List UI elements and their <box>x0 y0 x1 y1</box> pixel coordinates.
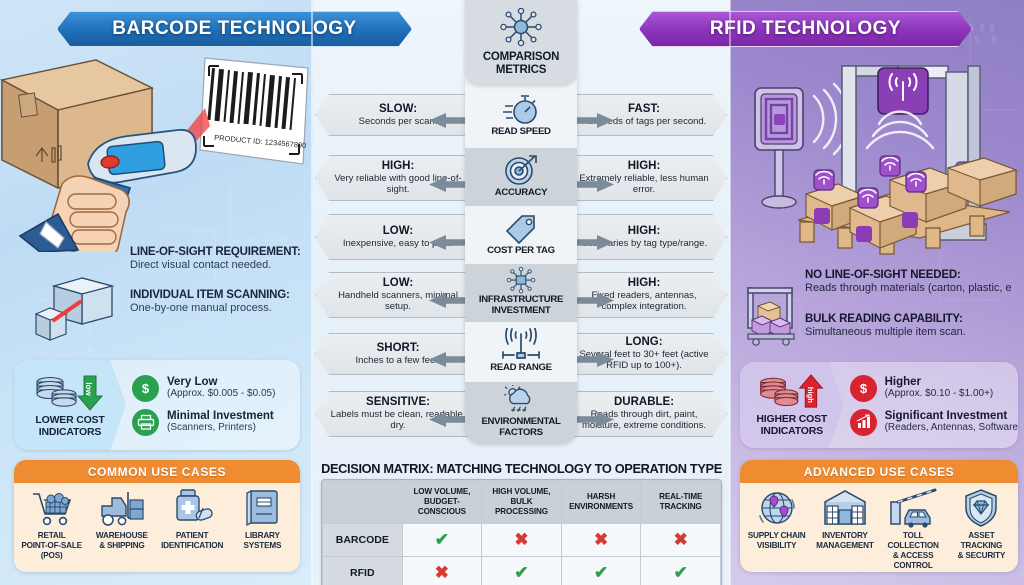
callout-key: HIGH: <box>382 160 415 173</box>
feature-desc: Direct visual contact needed. <box>130 259 310 273</box>
svg-text:$: $ <box>859 381 867 396</box>
cost-row-detail: (Approx. $0.005 - $0.05) <box>167 388 275 400</box>
coins-up-arrow-icon: high <box>756 373 828 411</box>
cell-barcode-low-volume: ✔ <box>402 524 482 557</box>
feature-line-of-sight: LINE-OF-SIGHT REQUIREMENT: Direct visual… <box>130 245 310 273</box>
cost-label-block: high HIGHER COSTINDICATORS <box>740 362 844 448</box>
spine-title: COMPARISONMETRICS <box>483 51 559 77</box>
cost-row-title: Very Low <box>167 376 275 389</box>
cell-barcode-realtime: ✖ <box>641 524 721 557</box>
target-arrow-icon <box>502 153 540 187</box>
metric-environmental: ENVIRONMENTAL FACTORS <box>465 382 577 444</box>
use-case-item[interactable]: WAREHOUSE& SHIPPING <box>87 488 156 561</box>
cost-label-block: low LOWER COSTINDICATORS <box>14 360 126 450</box>
feature-individual-scanning: INDIVIDUAL ITEM SCANNING: One-by-one man… <box>130 288 310 316</box>
cost-row-title: Significant Investment <box>885 410 1018 423</box>
decision-matrix: LOW VOLUME,BUDGET-CONSCIOUS HIGH VOLUME,… <box>321 479 722 585</box>
callout-key: LOW: <box>383 225 413 238</box>
network-hub-icon <box>499 8 543 48</box>
callout-key: SLOW: <box>379 103 417 116</box>
cost-row-detail: (Approx. $0.10 - $1.00+) <box>885 388 994 400</box>
cost-row-title: Higher <box>885 376 994 389</box>
callout-left-infrastructure: LOW: Handheld scanners, minimal setup. <box>315 272 473 318</box>
callout-key: SHORT: <box>377 342 420 355</box>
rfid-panel: NO LINE-OF-SIGHT NEEDED: Reads through m… <box>730 0 1024 585</box>
metric-label: READ RANGE <box>490 363 552 374</box>
callout-right-read-range: LONG: Several feet to 30+ feet (active R… <box>569 333 727 375</box>
row-label-rfid: RFID <box>323 557 403 585</box>
cell-rfid-high-volume: ✔ <box>482 557 562 585</box>
cost-row-detail: (Scanners, Printers) <box>167 422 274 434</box>
check-icon: ✔ <box>514 563 528 582</box>
cloud-rain-sun-icon <box>501 385 541 417</box>
use-case-item[interactable]: TOLL COLLECTION& ACCESS CONTROL <box>880 488 947 570</box>
column-header-high-volume: HIGH VOLUME,BULK PROCESSING <box>482 481 562 524</box>
svg-text:high: high <box>806 387 815 403</box>
cost-row: $ Higher (Approx. $0.10 - $1.00+) <box>850 375 1018 402</box>
spine-header: COMPARISONMETRICS <box>465 0 577 84</box>
column-header-low-volume: LOW VOLUME,BUDGET-CONSCIOUS <box>402 481 482 524</box>
use-case-caption: LIBRARYSYSTEMS <box>244 531 282 551</box>
metric-infrastructure: INFRASTRUCTURE INVESTMENT <box>465 264 577 322</box>
feature-desc: Reads through materials (carton, plastic… <box>805 282 1024 296</box>
callout-value: Inches to a few feet. <box>355 355 440 366</box>
callout-value: Seconds per scan. <box>359 116 438 127</box>
coins-down-arrow-icon: low <box>33 372 107 412</box>
use-case-item[interactable]: SUPPLY CHAINVISIBILITY <box>743 488 810 570</box>
cell-barcode-high-volume: ✖ <box>482 524 562 557</box>
advanced-use-cases-card: ADVANCED USE CASES <box>740 460 1018 572</box>
svg-text:low: low <box>84 382 93 396</box>
toll-gate-car-icon <box>887 488 939 528</box>
callout-right-environmental: DURABLE: Reads through dirt, paint, mois… <box>569 391 727 437</box>
feature-no-line-of-sight: NO LINE-OF-SIGHT NEEDED: Reads through m… <box>805 268 1024 296</box>
table-row: BARCODE ✔ ✖ ✖ ✖ <box>323 524 721 557</box>
feature-title: LINE-OF-SIGHT REQUIREMENT: <box>130 245 310 259</box>
dollar-icon: $ <box>850 375 877 402</box>
cost-label: HIGHER COSTINDICATORS <box>756 413 827 437</box>
cell-rfid-harsh: ✔ <box>561 557 641 585</box>
cost-row-title: Minimal Investment <box>167 410 274 423</box>
use-case-caption: SUPPLY CHAINVISIBILITY <box>748 531 806 551</box>
feature-desc: One-by-one manual process. <box>130 302 310 316</box>
metric-cost-per-tag: COST PER TAG <box>465 206 577 264</box>
bulk-reading-icon <box>740 282 802 346</box>
feature-title: BULK READING CAPABILITY: <box>805 312 1021 326</box>
barcode-scanner-illustration: PRODUCT ID: 1234567890 <box>0 52 313 252</box>
column-header-realtime: REAL-TIMETRACKING <box>641 481 721 524</box>
check-icon: ✔ <box>435 530 449 549</box>
panel-divider-left <box>311 0 313 585</box>
check-icon: ✔ <box>594 563 608 582</box>
cost-row-detail: (Readers, Antennas, Software <box>885 422 1018 434</box>
callout-right-read-speed: FAST: Hundreds of tags per second. <box>569 94 727 136</box>
callout-left-accuracy: HIGH: Very reliable with good line-of-si… <box>315 155 473 201</box>
check-icon: ✔ <box>674 563 688 582</box>
feature-desc: Simultaneous multiple item scan. <box>805 326 1021 340</box>
feature-bulk-reading: BULK READING CAPABILITY: Simultaneous mu… <box>805 312 1021 340</box>
metric-accuracy: ACCURACY <box>465 148 577 206</box>
use-case-item[interactable]: INVENTORYMANAGEMENT <box>811 488 878 570</box>
medicine-bottle-icon <box>170 488 214 528</box>
use-cases-heading: ADVANCED USE CASES <box>740 460 1018 483</box>
warehouse-icon <box>822 488 868 528</box>
use-case-item[interactable]: LIBRARYSYSTEMS <box>228 488 297 561</box>
feature-title: NO LINE-OF-SIGHT NEEDED: <box>805 268 1024 282</box>
barcode-panel: PRODUCT ID: 1234567890 <box>0 0 313 585</box>
callout-left-environmental: SENSITIVE: Labels must be clean, readabl… <box>315 391 473 437</box>
row-label-barcode: BARCODE <box>323 524 403 557</box>
table-row: RFID ✖ ✔ ✔ ✔ <box>323 557 721 585</box>
callout-left-read-speed: SLOW: Seconds per scan. <box>315 94 473 136</box>
callout-left-read-range: SHORT: Inches to a few feet. <box>315 333 473 375</box>
metric-read-range: READ RANGE <box>465 322 577 382</box>
infographic-root: PRODUCT ID: 1234567890 <box>0 0 1024 585</box>
decision-matrix-table: LOW VOLUME,BUDGET-CONSCIOUS HIGH VOLUME,… <box>322 480 721 585</box>
table-corner-cell <box>323 481 403 524</box>
forklift-icon <box>98 488 146 528</box>
callout-key: DURABLE: <box>614 396 674 409</box>
shopping-cart-icon <box>29 488 75 528</box>
barcode-title-banner: BARCODE TECHNOLOGY <box>57 11 412 47</box>
cost-row: Minimal Investment (Scanners, Printers) <box>132 409 300 436</box>
metric-label: READ SPEED <box>491 127 550 138</box>
antenna-signal-icon <box>499 328 543 362</box>
use-case-caption: RETAILPOINT-OF-SALE(POS) <box>21 531 82 561</box>
callout-key: LONG: <box>625 336 662 349</box>
callout-right-cost-per-tag: HIGH: Cost varies by tag type/range. <box>569 214 727 260</box>
metric-label: ENVIRONMENTAL FACTORS <box>468 417 574 438</box>
callout-right-infrastructure: HIGH: Fixed readers, antennas, complex i… <box>569 272 727 318</box>
cross-icon: ✖ <box>674 530 688 549</box>
lower-cost-indicators-card: low LOWER COSTINDICATORS $ Very Low (App… <box>14 360 300 450</box>
cross-icon: ✖ <box>594 530 608 549</box>
decision-matrix-title: DECISION MATRIX: MATCHING TECHNOLOGY TO … <box>313 461 730 476</box>
use-case-item[interactable]: RETAILPOINT-OF-SALE(POS) <box>17 488 86 561</box>
metric-label: INFRASTRUCTURE INVESTMENT <box>468 295 574 316</box>
cell-rfid-low-volume: ✖ <box>402 557 482 585</box>
cost-row: Significant Investment (Readers, Antenna… <box>850 409 1018 436</box>
shield-diamond-icon <box>961 488 1001 528</box>
panel-divider-right <box>729 0 731 585</box>
comparison-metrics-spine: COMPARISONMETRICS READ SPEED <box>465 0 577 444</box>
cost-rows: $ Higher (Approx. $0.10 - $1.00+) <box>844 362 1018 448</box>
callout-key: HIGH: <box>628 277 661 290</box>
common-use-cases-card: COMMON USE CASES <box>14 460 300 572</box>
rfid-title-banner: RFID TECHNOLOGY <box>639 11 972 47</box>
stopwatch-icon <box>502 92 540 126</box>
book-icon <box>242 488 282 528</box>
cell-barcode-harsh: ✖ <box>561 524 641 557</box>
cross-icon: ✖ <box>435 563 449 582</box>
callout-key: HIGH: <box>628 160 661 173</box>
use-cases-heading: COMMON USE CASES <box>14 460 300 483</box>
use-case-caption: TOLL COLLECTION& ACCESS CONTROL <box>880 531 947 570</box>
metric-read-speed: READ SPEED <box>465 84 577 148</box>
higher-cost-indicators-card: high HIGHER COSTINDICATORS $ Higher (App… <box>740 362 1018 448</box>
use-cases-list: RETAILPOINT-OF-SALE(POS) <box>14 483 300 565</box>
cost-rows: $ Very Low (Approx. $0.005 - $0.05) <box>126 360 300 450</box>
rfid-gate-illustration <box>730 52 1024 264</box>
use-case-item[interactable]: ASSETTRACKING& SECURITY <box>948 488 1015 570</box>
metric-label: COST PER TAG <box>487 246 555 257</box>
network-hub-icon <box>502 267 540 295</box>
cost-label: LOWER COSTINDICATORS <box>35 414 104 438</box>
cross-icon: ✖ <box>514 530 528 549</box>
use-case-caption: ASSETTRACKING& SECURITY <box>958 531 1006 561</box>
comparison-panel: SLOW: Seconds per scan. HIGH: Very relia… <box>313 0 730 585</box>
callout-key: HIGH: <box>628 225 661 238</box>
use-case-caption: WAREHOUSE& SHIPPING <box>96 531 148 551</box>
svg-text:$: $ <box>142 381 150 396</box>
column-header-harsh: HARSHENVIRONMENTS <box>561 481 641 524</box>
price-tag-icon <box>502 211 540 245</box>
dollar-icon: $ <box>132 375 159 402</box>
globe-pin-icon <box>755 488 799 528</box>
individual-scan-icon <box>32 272 124 344</box>
table-header-row: LOW VOLUME,BUDGET-CONSCIOUS HIGH VOLUME,… <box>323 481 721 524</box>
use-case-caption: PATIENTIDENTIFICATION <box>161 531 223 551</box>
use-case-item[interactable]: PATIENTIDENTIFICATION <box>158 488 227 561</box>
callout-key: FAST: <box>628 103 660 116</box>
printer-icon <box>132 409 159 436</box>
callout-key: LOW: <box>383 277 413 290</box>
use-cases-list: SUPPLY CHAINVISIBILITY INVENT <box>740 483 1018 572</box>
callout-left-cost-per-tag: LOW: Inexpensive, easy to print. <box>315 214 473 260</box>
bar-chart-icon <box>850 409 877 436</box>
callout-right-accuracy: HIGH: Extremely reliable, less human err… <box>569 155 727 201</box>
feature-title: INDIVIDUAL ITEM SCANNING: <box>130 288 310 302</box>
metric-label: ACCURACY <box>495 188 548 199</box>
cost-row: $ Very Low (Approx. $0.005 - $0.05) <box>132 375 300 402</box>
cell-rfid-realtime: ✔ <box>641 557 721 585</box>
use-case-caption: INVENTORYMANAGEMENT <box>816 531 874 551</box>
callout-key: SENSITIVE: <box>366 396 430 409</box>
